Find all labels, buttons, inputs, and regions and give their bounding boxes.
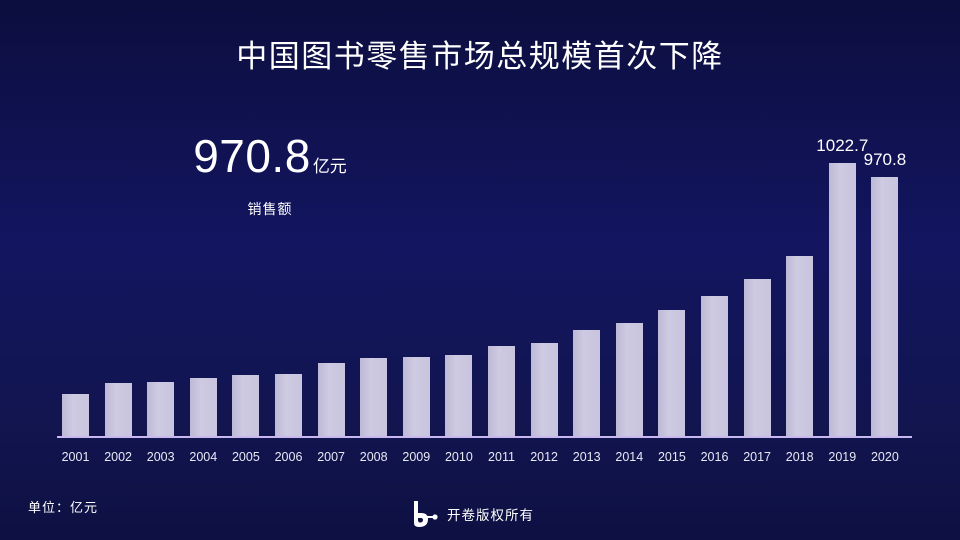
bar-2014 [616,323,643,437]
bar-2002 [105,383,132,437]
bar-2003 [147,382,174,437]
bar-2019 [829,163,856,437]
watermark: 开卷版权所有 [405,497,534,531]
bar-2005 [232,375,259,437]
bar-2006 [275,374,302,437]
slide-canvas: 中国图书零售市场总规模首次下降 970.8 亿元 销售额 1022.7970.8… [0,0,960,540]
bar-2007 [318,363,345,437]
bar-2001 [62,394,89,437]
bar-2015 [658,310,685,437]
bar-2017 [744,279,771,437]
bar-2004 [190,378,217,437]
x-axis-line [57,436,912,438]
bar-2016 [701,296,728,437]
bar-2011 [488,346,515,437]
bar-2013 [573,330,600,437]
bar-2012 [531,343,558,437]
bar-chart-plot: 1022.7970.8 2001200220032004200520062007… [0,0,960,540]
bar-2018 [786,256,813,437]
watermark-text: 开卷版权所有 [447,504,534,524]
bar-2020 [871,177,898,437]
bar-2008 [360,358,387,437]
bar-2010 [445,355,472,437]
openbook-logo-icon [405,497,439,531]
tick-label-2020: 2020 [860,450,910,464]
bar-value-label-2020: 970.8 [845,150,925,170]
unit-note: 单位：亿元 [28,497,98,516]
bar-2009 [403,357,430,437]
